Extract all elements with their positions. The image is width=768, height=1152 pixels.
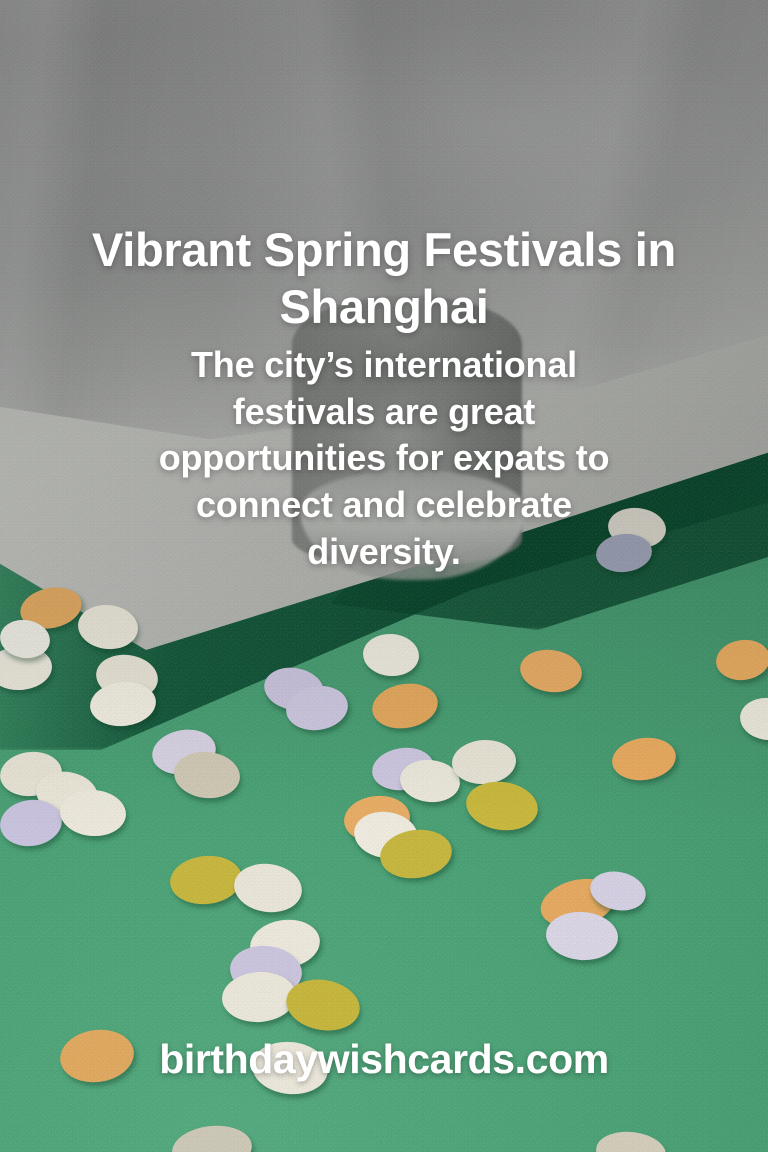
confetti-dot: [76, 602, 140, 652]
text-overlay: Vibrant Spring Festivals in Shanghai The…: [0, 222, 768, 576]
confetti-dot: [713, 636, 768, 683]
confetti-dot: [517, 646, 584, 696]
headline-title: Vibrant Spring Festivals in Shanghai: [56, 222, 712, 336]
confetti-dot: [544, 910, 619, 963]
confetti-dot: [362, 632, 421, 678]
confetti-dot: [231, 860, 305, 917]
confetti-dot: [170, 1122, 254, 1152]
confetti-layer: [0, 0, 768, 1152]
site-watermark: birthdaywishcards.com: [0, 1036, 768, 1083]
confetti-dot: [168, 852, 245, 907]
confetti-dot: [594, 1128, 668, 1152]
confetti-dot: [738, 695, 768, 743]
confetti-dot: [58, 788, 127, 838]
confetti-dot: [609, 734, 678, 784]
pin-graphic-card: Vibrant Spring Festivals in Shanghai The…: [0, 0, 768, 1152]
subheadline-text: The city’s international festivals are g…: [129, 342, 639, 576]
confetti-dot: [463, 777, 541, 835]
confetti-dot: [369, 679, 442, 734]
confetti-dot: [451, 738, 518, 786]
